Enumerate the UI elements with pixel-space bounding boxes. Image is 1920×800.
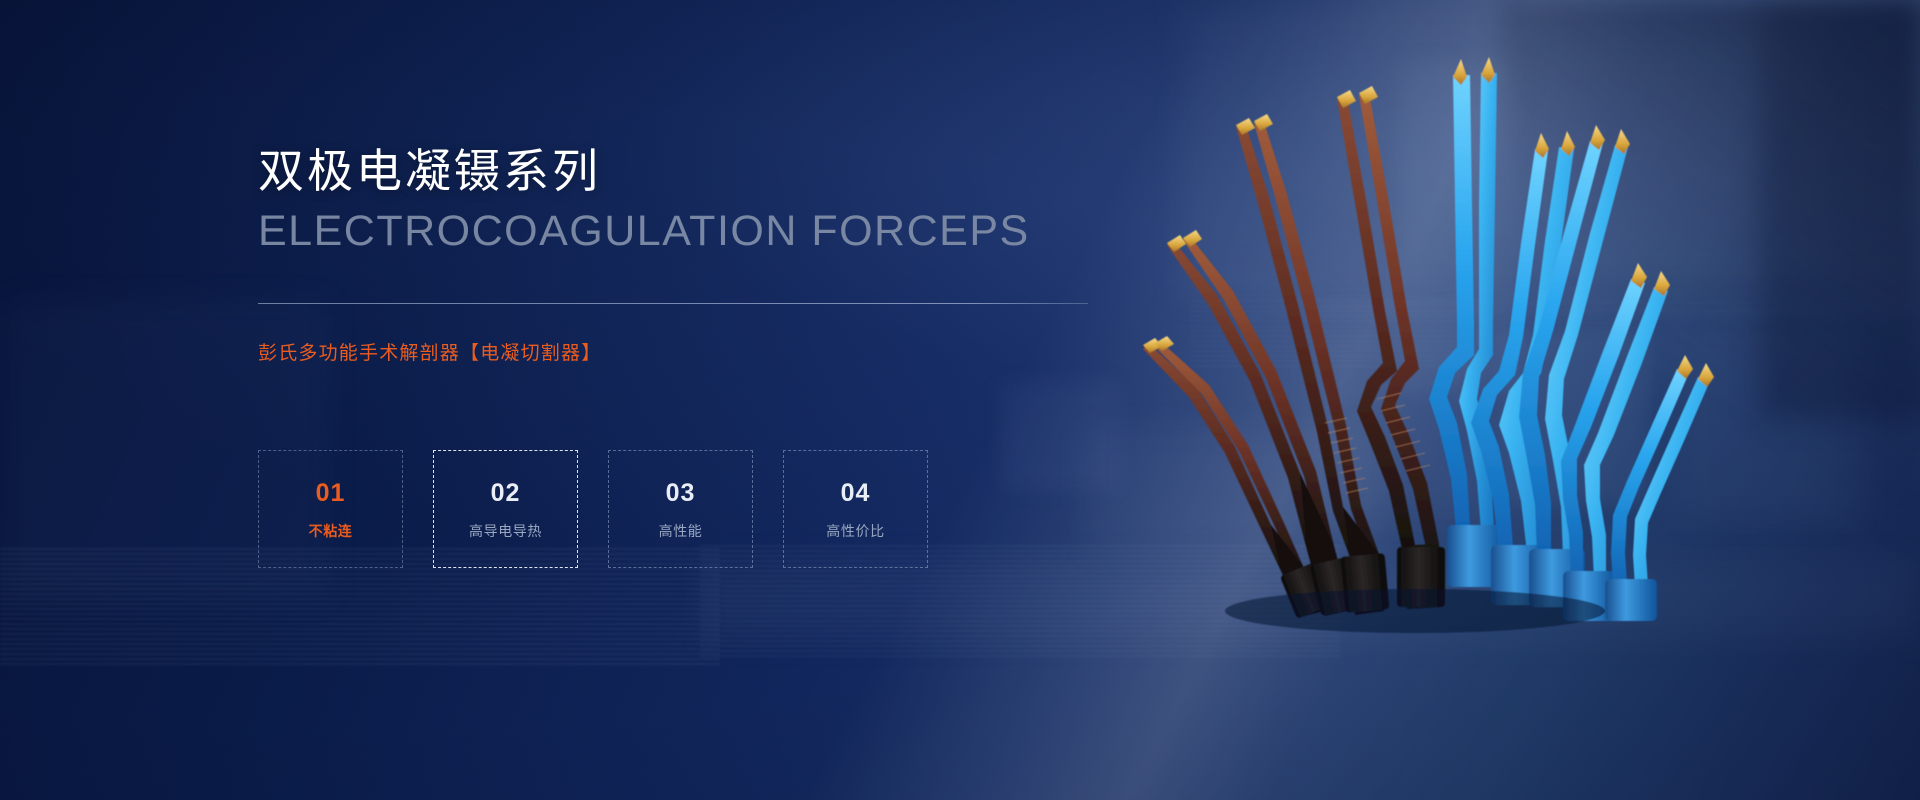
page-title: 双极电凝镊系列	[258, 148, 601, 194]
feature-box-04[interactable]: 04 高性价比	[783, 450, 928, 568]
feature-label: 高性价比	[826, 524, 884, 538]
feature-number: 03	[666, 481, 696, 506]
product-banner: 双极电凝镊系列 ELECTROCOAGULATION FORCEPS 彭氏多功能…	[0, 0, 1920, 800]
feature-box-02[interactable]: 02 高导电导热	[433, 450, 578, 568]
feature-number: 02	[491, 481, 521, 506]
feature-number: 04	[841, 481, 871, 506]
feature-list: 01 不粘连 02 高导电导热 03 高性能 04 高性价比	[258, 450, 928, 568]
banner-content: 双极电凝镊系列 ELECTROCOAGULATION FORCEPS 彭氏多功能…	[258, 0, 1118, 800]
feature-box-03[interactable]: 03 高性能	[608, 450, 753, 568]
page-subtitle-en: ELECTROCOAGULATION FORCEPS	[258, 210, 1030, 253]
feature-label: 高导电导热	[469, 524, 542, 538]
forceps-product-image	[1085, 55, 1645, 615]
feature-label: 高性能	[659, 524, 703, 538]
feature-box-01[interactable]: 01 不粘连	[258, 450, 403, 568]
feature-number: 01	[316, 481, 346, 506]
product-subtitle: 彭氏多功能手术解剖器【电凝切割器】	[258, 338, 601, 365]
feature-label: 不粘连	[309, 524, 353, 538]
divider	[258, 303, 1088, 304]
